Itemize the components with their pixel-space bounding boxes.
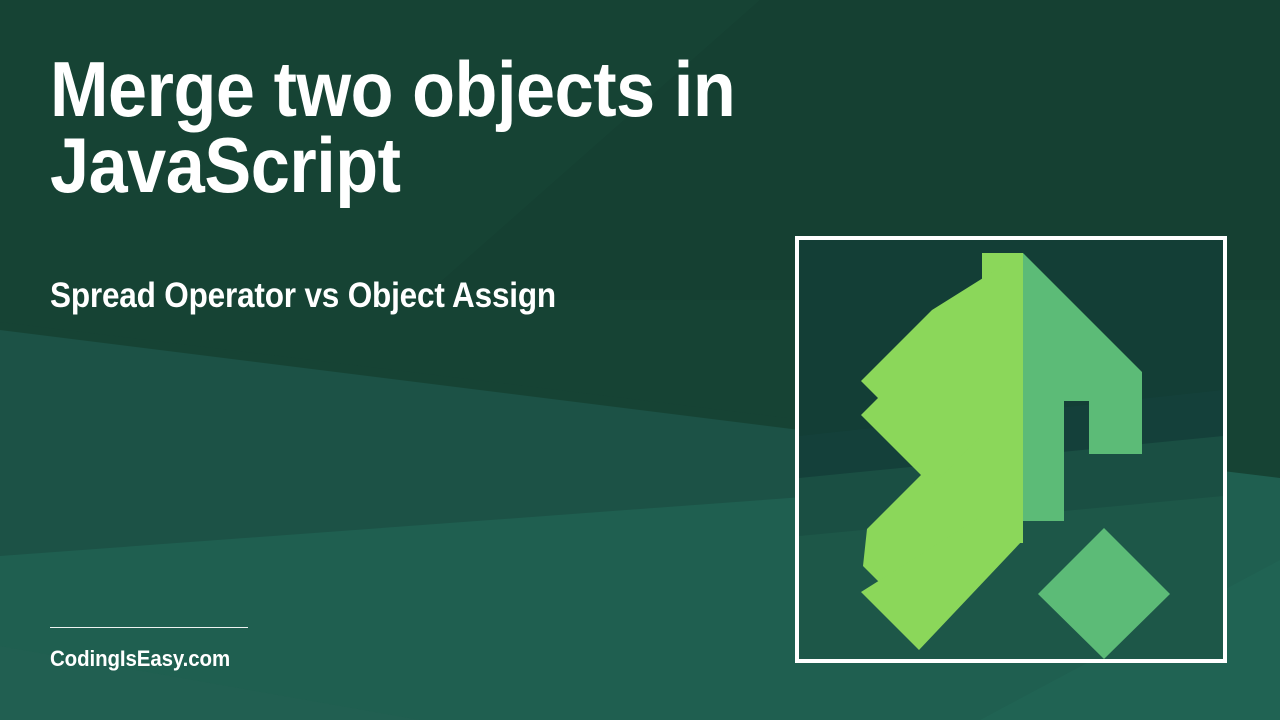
page-subtitle: Spread Operator vs Object Assign — [50, 277, 770, 316]
text-column: Merge two objects in JavaScript Spread O… — [50, 0, 850, 720]
footer: CodingIsEasy.com — [50, 627, 470, 672]
title-card: Merge two objects in JavaScript Spread O… — [0, 0, 1280, 720]
footer-divider — [50, 627, 248, 628]
logo-panel — [795, 236, 1227, 663]
brand-name: CodingIsEasy.com — [50, 646, 441, 672]
merge-arrows-icon — [799, 240, 1223, 659]
page-title: Merge two objects in JavaScript — [50, 52, 770, 203]
